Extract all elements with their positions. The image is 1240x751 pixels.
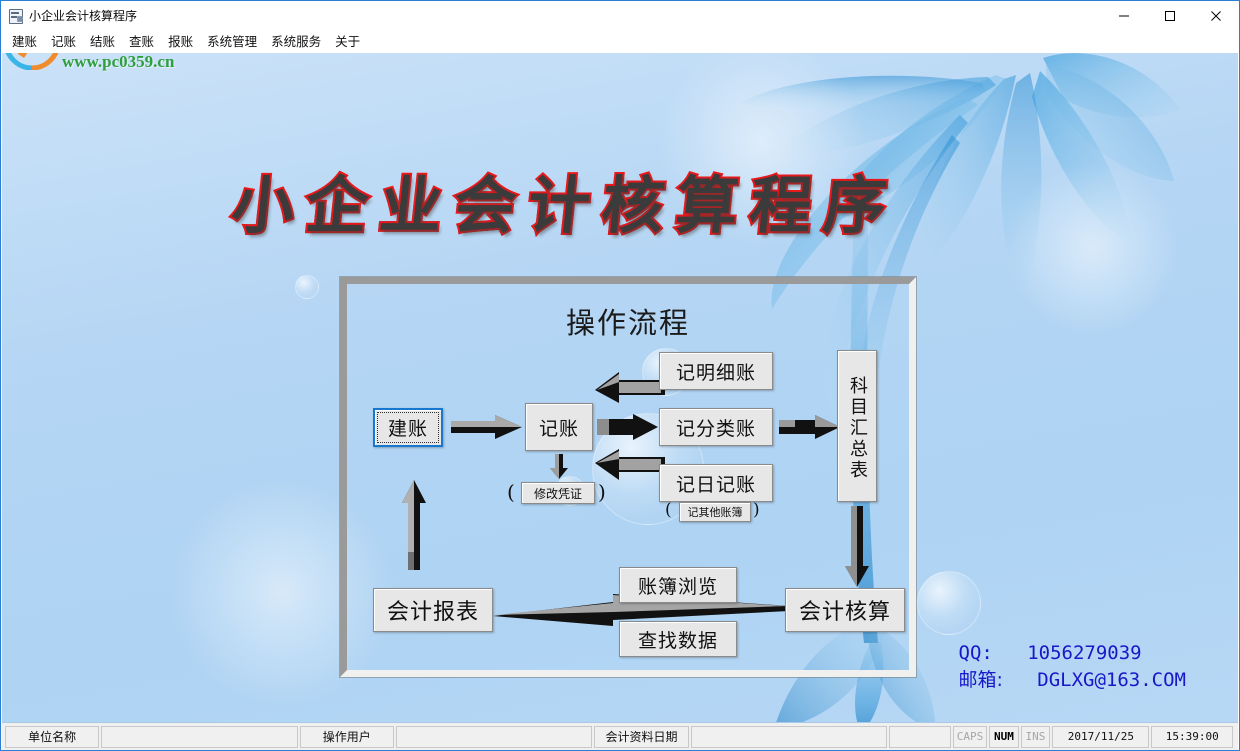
- arrow-hook-detail-ledger: [595, 369, 665, 403]
- arrow-create-to-bookkeeping: [451, 415, 523, 439]
- email-row: 邮箱: DGLXG@163.COM: [959, 667, 1186, 694]
- menu-item-system-service[interactable]: 系统服务: [264, 32, 328, 53]
- status-unit-name-label: 单位名称: [5, 726, 99, 748]
- close-button[interactable]: [1193, 1, 1239, 31]
- menu-item-about[interactable]: 关于: [328, 32, 367, 53]
- arrow-classified-to-summary: [779, 415, 841, 439]
- status-caps-indicator: CAPS: [953, 726, 987, 748]
- status-operator-value: [396, 726, 592, 748]
- bubble-decoration: [295, 275, 319, 299]
- status-time: 15:39:00: [1151, 726, 1233, 748]
- flow-node-bookkeeping[interactable]: 记账: [525, 403, 593, 451]
- status-spare-panel: [889, 726, 951, 748]
- application-window: 小企业会计核算程序 建账 记账 结账 查账 报账 系统管理 系统服务 关于: [0, 0, 1240, 751]
- contact-info: QQ: 1056279039 邮箱: DGLXG@163.COM: [959, 640, 1186, 694]
- site-name: 河东软件园: [54, 53, 209, 58]
- menu-item-bookkeeping[interactable]: 记账: [44, 32, 83, 53]
- app-banner: 小企业会计核算程序: [232, 161, 1022, 251]
- qq-value: 1056279039: [1027, 642, 1141, 664]
- bubble-decoration: [917, 571, 981, 635]
- site-url: www.pc0359.cn: [62, 53, 174, 72]
- menu-item-settlement[interactable]: 结账: [83, 32, 122, 53]
- client-area: 小企业会计核算程序 操作流程 建账 记账: [2, 53, 1238, 722]
- site-logo-icon: [4, 53, 60, 70]
- flow-node-classified-ledger[interactable]: 记分类账: [659, 408, 773, 446]
- menu-bar: 建账 记账 结账 查账 报账 系统管理 系统服务 关于: [1, 31, 1239, 53]
- operation-flow-panel: 操作流程 建账 记账: [340, 277, 916, 677]
- status-bar: 单位名称 操作用户 会计资料日期 CAPS NUM INS 2017/11/25…: [2, 722, 1238, 750]
- paren-left-modify: (: [507, 480, 515, 504]
- light-bloom: [652, 53, 872, 243]
- maximize-button[interactable]: [1147, 1, 1193, 31]
- minimize-button[interactable]: [1101, 1, 1147, 31]
- title-bar: 小企业会计核算程序: [1, 1, 1239, 31]
- email-label: 邮箱:: [959, 669, 1003, 691]
- menu-item-report-account[interactable]: 报账: [161, 32, 200, 53]
- arrow-bookkeeping-to-modify: [549, 454, 569, 480]
- qq-label: QQ:: [959, 642, 993, 664]
- paren-left-other-books: (: [665, 500, 672, 520]
- paren-right-modify: ): [598, 480, 606, 504]
- status-num-indicator: NUM: [989, 726, 1018, 748]
- status-operator-label: 操作用户: [300, 726, 394, 748]
- flow-node-modify-voucher[interactable]: 修改凭证: [521, 482, 595, 504]
- light-bloom: [1002, 163, 1182, 333]
- arrow-summary-to-accounting: [844, 506, 870, 588]
- status-ins-indicator: INS: [1021, 726, 1050, 748]
- window-title: 小企业会计核算程序: [29, 1, 137, 31]
- paren-right-other-books: ): [753, 500, 760, 520]
- app-document-icon: [8, 8, 24, 24]
- flow-node-find-data[interactable]: 查找数据: [619, 621, 737, 657]
- status-date: 2017/11/25: [1052, 726, 1149, 748]
- window-controls: [1101, 1, 1239, 31]
- banner-title: 小企业会计核算程序: [227, 161, 1026, 251]
- flow-node-accounting[interactable]: 会计核算: [785, 588, 905, 632]
- flow-panel-title: 操作流程: [347, 300, 909, 342]
- flow-node-create-account[interactable]: 建账: [373, 408, 443, 447]
- site-watermark: 河东软件园 www.pc0359.cn: [2, 53, 222, 88]
- flow-node-detail-ledger[interactable]: 记明细账: [659, 352, 773, 390]
- arrow-hook-daily-journal: [595, 449, 665, 483]
- status-unit-name-value: [101, 726, 297, 748]
- flow-node-subject-summary[interactable]: 科目汇总表: [837, 350, 877, 502]
- menu-item-create-account[interactable]: 建账: [5, 32, 44, 53]
- flow-node-daily-journal[interactable]: 记日记账: [659, 464, 773, 502]
- arrow-report-to-bookkeeping: [401, 480, 427, 570]
- qq-row: QQ: 1056279039: [959, 640, 1186, 667]
- menu-item-system-management[interactable]: 系统管理: [200, 32, 264, 53]
- flow-node-ledger-browse[interactable]: 账簿浏览: [619, 567, 737, 603]
- email-value: DGLXG@163.COM: [1037, 669, 1186, 691]
- status-accounting-date-value: [691, 726, 887, 748]
- menu-item-check-account[interactable]: 查账: [122, 32, 161, 53]
- arrow-bookkeeping-to-classified: [597, 414, 659, 440]
- flow-node-accounting-report[interactable]: 会计报表: [373, 588, 493, 632]
- flow-node-other-books[interactable]: 记其他账簿: [679, 502, 751, 522]
- status-accounting-date-label: 会计资料日期: [594, 726, 688, 748]
